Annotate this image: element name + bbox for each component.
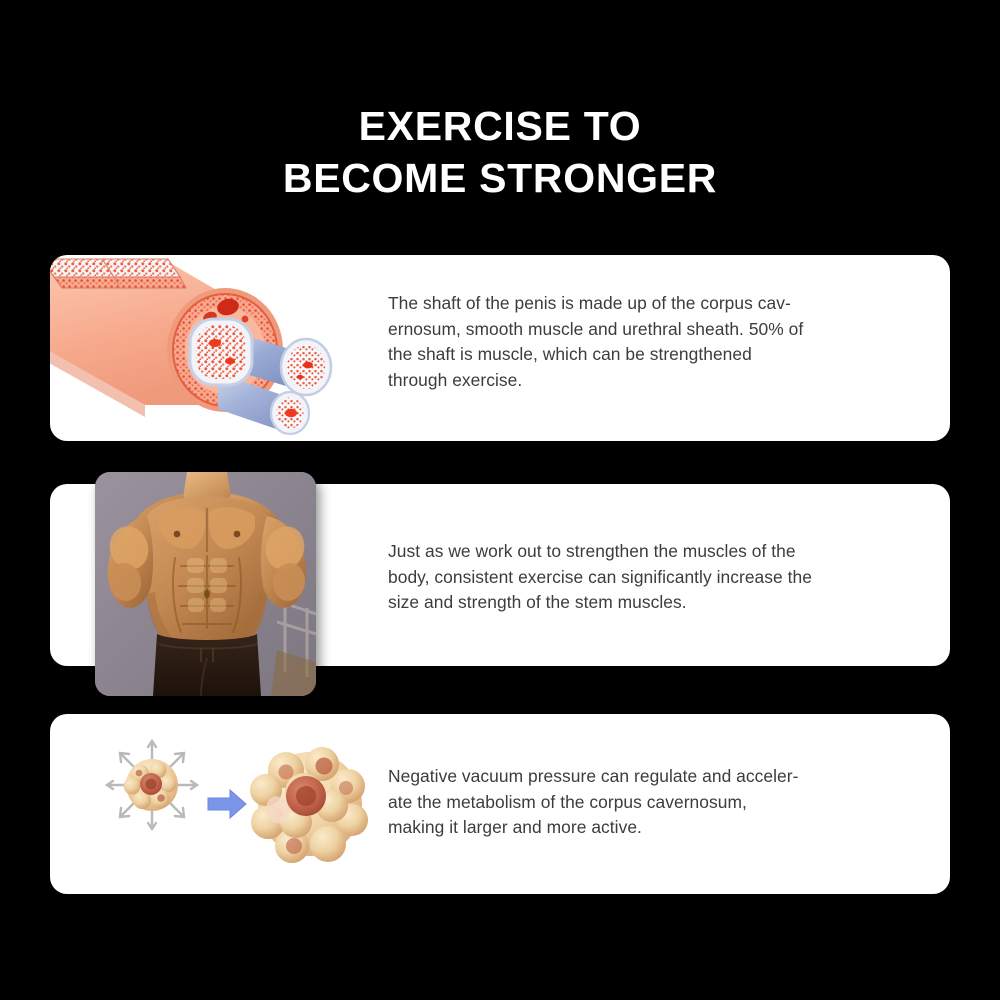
card-clip-region: The shaft of the penis is made up of the… — [50, 255, 950, 441]
info-card-anatomy: The shaft of the penis is made up of the… — [50, 255, 950, 441]
page-title: EXERCISE TO BECOME STRONGER — [0, 100, 1000, 204]
muscular-male-torso-photo — [95, 472, 316, 696]
title-line-1: EXERCISE TO — [0, 100, 1000, 152]
title-line-2: BECOME STRONGER — [0, 152, 1000, 204]
penis-cross-section-anatomy-illustration — [50, 255, 350, 441]
card-text-cells: Negative vacuum pressure can regulate an… — [388, 764, 913, 841]
card-clip-region: Negative vacuum pressure can regulate an… — [50, 714, 950, 894]
card-text-bodybuilder: Just as we work out to strengthen the mu… — [388, 539, 913, 616]
card-text-anatomy: The shaft of the penis is made up of the… — [388, 291, 913, 393]
info-card-cells: Negative vacuum pressure can regulate an… — [50, 714, 950, 894]
cell-cluster-expansion-diagram — [90, 736, 380, 876]
